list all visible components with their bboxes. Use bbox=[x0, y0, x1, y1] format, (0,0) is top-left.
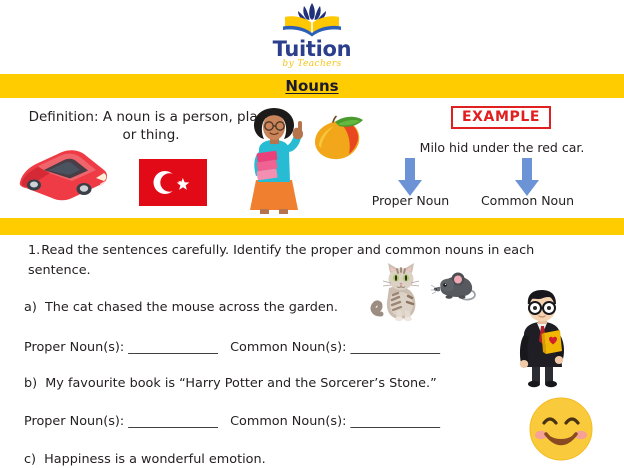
list-item: a) The cat chased the mouse across the g… bbox=[24, 298, 338, 317]
common-noun-field-label: Common Noun(s): bbox=[230, 414, 346, 429]
open-book-logo-icon bbox=[279, 2, 345, 40]
brand-name: Tuition bbox=[273, 39, 352, 60]
down-arrow-icon bbox=[397, 158, 423, 198]
page-title: Nouns bbox=[0, 74, 624, 98]
item-marker: b) bbox=[24, 376, 37, 391]
proper-noun-blank[interactable]: ______________ bbox=[128, 414, 218, 429]
question-number: 1. bbox=[28, 243, 40, 258]
item-sentence: Happiness is a wonderful emotion. bbox=[44, 452, 266, 467]
smiling-face-emoji bbox=[528, 396, 594, 462]
proper-noun-blank[interactable]: ______________ bbox=[128, 340, 218, 355]
worksheet-page: Tuition by Teachers Nouns Definition: A … bbox=[0, 0, 624, 468]
common-noun-blank[interactable]: ______________ bbox=[350, 340, 440, 355]
mango-fruit-image bbox=[305, 112, 367, 164]
teacher-woman-image bbox=[232, 106, 316, 214]
grey-mouse-image bbox=[431, 268, 479, 302]
list-item: b) My favourite book is “Harry Potter an… bbox=[24, 374, 437, 393]
wizard-boy-image bbox=[508, 285, 576, 389]
brand-tagline: by Teachers bbox=[282, 60, 341, 69]
section-divider-bar bbox=[0, 218, 624, 235]
red-car-image bbox=[12, 142, 112, 204]
common-noun-field-label: Common Noun(s): bbox=[230, 340, 346, 355]
item-sentence: My favourite book is “Harry Potter and t… bbox=[45, 376, 436, 391]
proper-noun-field-label: Proper Noun(s): bbox=[24, 340, 124, 355]
turkey-flag-image bbox=[139, 159, 207, 206]
common-noun-label: Common Noun bbox=[475, 193, 580, 208]
down-arrow-icon bbox=[514, 158, 540, 198]
answer-row: Proper Noun(s): ______________ Common No… bbox=[24, 412, 440, 431]
brand-logo: Tuition by Teachers bbox=[0, 2, 624, 74]
answer-row: Proper Noun(s): ______________ Common No… bbox=[24, 338, 440, 357]
item-marker: c) bbox=[24, 452, 36, 467]
tabby-cat-image bbox=[371, 262, 431, 324]
list-item: c) Happiness is a wonderful emotion. bbox=[24, 450, 266, 468]
common-noun-blank[interactable]: ______________ bbox=[350, 414, 440, 429]
example-sentence: Milo hid under the red car. bbox=[381, 140, 623, 155]
proper-noun-label: Proper Noun bbox=[358, 193, 463, 208]
example-stamp: EXAMPLE bbox=[451, 106, 551, 129]
item-sentence: The cat chased the mouse across the gard… bbox=[45, 300, 338, 315]
question-instruction: 1.Read the sentences carefully. Identify… bbox=[28, 241, 568, 281]
proper-noun-field-label: Proper Noun(s): bbox=[24, 414, 124, 429]
item-marker: a) bbox=[24, 300, 37, 315]
